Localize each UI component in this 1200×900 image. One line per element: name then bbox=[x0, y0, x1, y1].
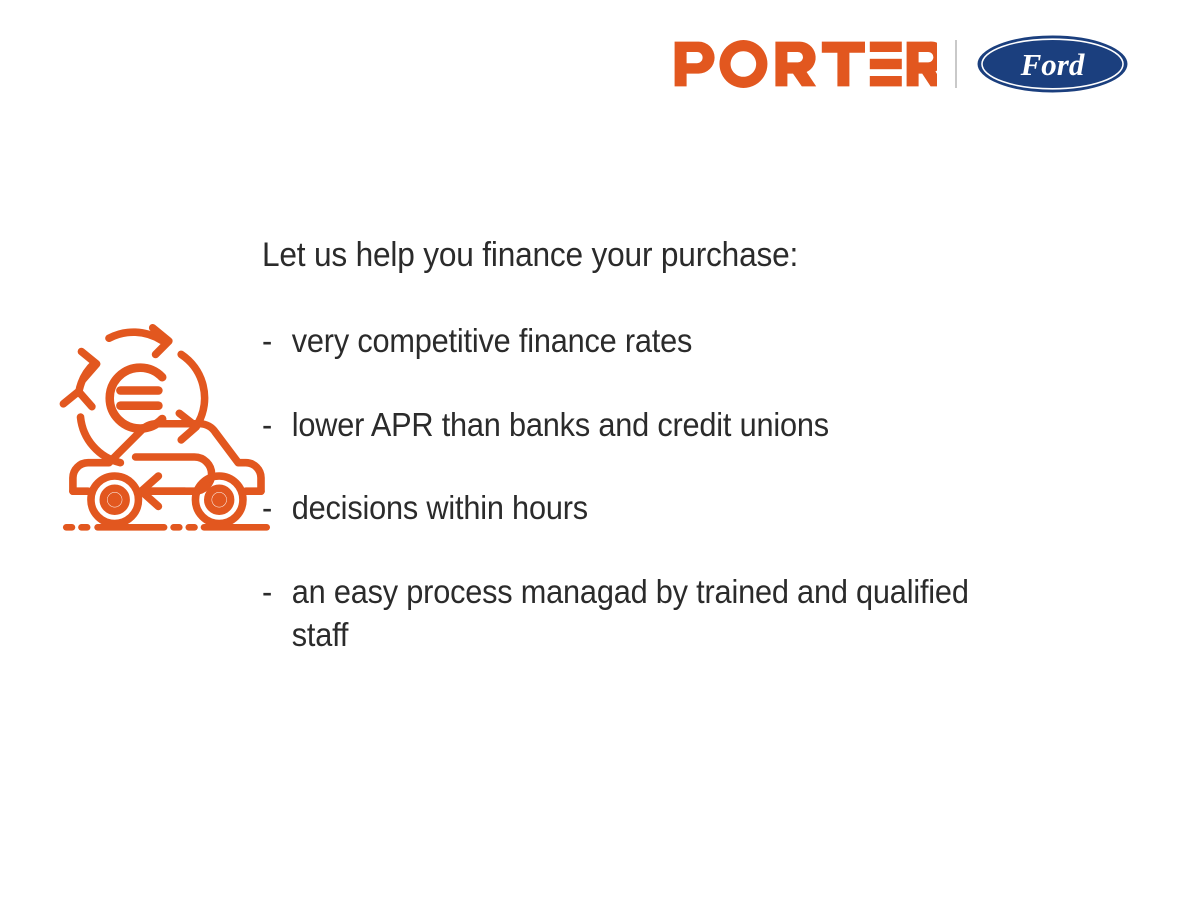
benefits-list: - very competitive finance rates - lower… bbox=[262, 319, 1090, 657]
text-column: Let us help you finance your purchase: -… bbox=[250, 236, 1200, 657]
list-item-label: very competitive finance rates bbox=[292, 319, 692, 363]
bullet-marker: - bbox=[262, 319, 292, 363]
ford-logo: Ford bbox=[975, 33, 1130, 95]
bullet-marker: - bbox=[262, 570, 292, 614]
svg-text:Ford: Ford bbox=[1020, 47, 1085, 82]
page-title: Let us help you finance your purchase: bbox=[262, 236, 1032, 275]
list-item: - very competitive finance rates bbox=[262, 319, 1032, 363]
content-area: Let us help you finance your purchase: -… bbox=[0, 236, 1200, 657]
list-item: - lower APR than banks and credit unions bbox=[262, 403, 1032, 447]
porter-logo bbox=[673, 38, 937, 90]
list-item: - an easy process managad by trained and… bbox=[262, 570, 1032, 657]
bullet-marker: - bbox=[262, 486, 292, 530]
list-item: - decisions within hours bbox=[262, 486, 1032, 530]
list-item-label: decisions within hours bbox=[292, 486, 588, 530]
bullet-marker: - bbox=[262, 403, 292, 447]
list-item-label: an easy process managad by trained and q… bbox=[292, 570, 1032, 657]
brand-divider bbox=[955, 40, 957, 88]
brand-lockup: Ford bbox=[673, 28, 1130, 100]
finance-icon-container bbox=[0, 236, 250, 554]
finance-slide: Ford bbox=[0, 0, 1200, 900]
list-item-label: lower APR than banks and credit unions bbox=[292, 403, 829, 447]
car-finance-euro-icon bbox=[52, 322, 280, 554]
